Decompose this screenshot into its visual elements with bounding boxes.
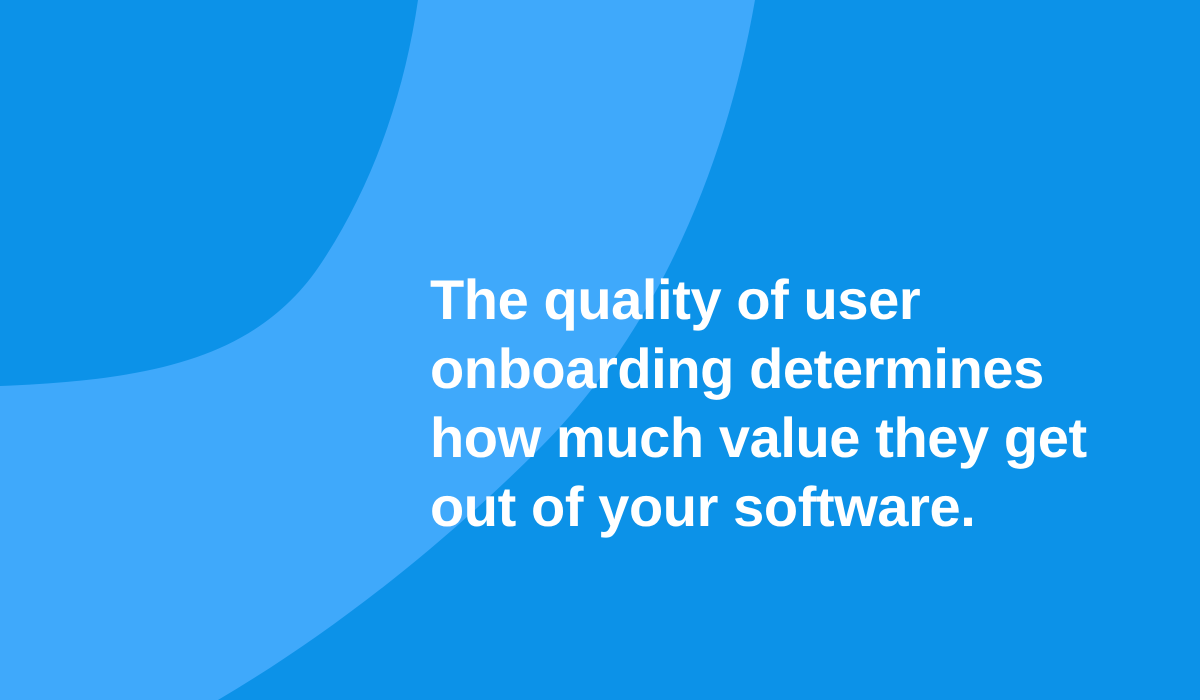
quote-card-canvas: The quality of user onboarding determine… [0, 0, 1200, 700]
quote-text: The quality of user onboarding determine… [430, 265, 1130, 541]
quote-block: The quality of user onboarding determine… [430, 265, 1130, 541]
